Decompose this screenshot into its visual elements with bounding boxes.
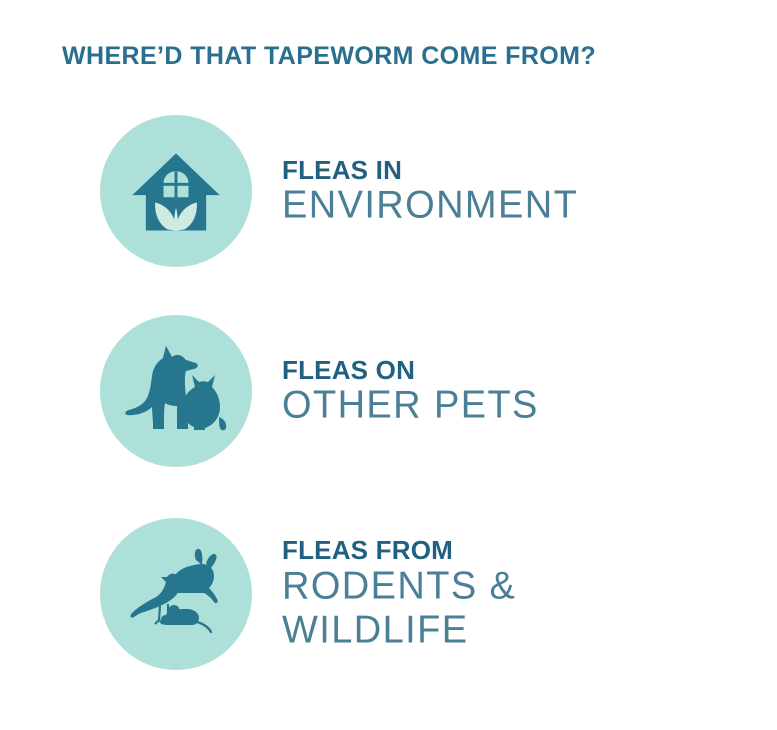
label-light-environment: ENVIRONMENT (282, 185, 578, 227)
label-bold-rodents-wildlife: FLEAS FROM (282, 536, 516, 564)
icon-circle-other-pets (100, 315, 252, 467)
icon-circle-environment (100, 115, 252, 267)
info-row-other-pets: FLEAS ON OTHER PETS (0, 315, 777, 467)
label-bold-environment: FLEAS IN (282, 156, 578, 184)
text-block-other-pets: FLEAS ON OTHER PETS (282, 315, 539, 467)
text-block-environment: FLEAS IN ENVIRONMENT (282, 115, 578, 267)
icon-circle-rodents-wildlife (100, 518, 252, 670)
label-light-wildlife: WILDLIFE (282, 609, 516, 652)
page-title: WHERE’D THAT TAPEWORM COME FROM? (62, 42, 596, 71)
text-block-rodents-wildlife: FLEAS FROM RODENTS & WILDLIFE (282, 518, 516, 670)
label-bold-other-pets: FLEAS ON (282, 356, 539, 384)
info-row-environment: FLEAS IN ENVIRONMENT (0, 115, 777, 267)
label-light-other-pets: OTHER PETS (282, 385, 539, 427)
bird-rabbit-mouse-icon (118, 544, 234, 644)
house-with-leaves-icon (124, 139, 228, 243)
dog-and-cat-icon (120, 339, 232, 443)
info-row-rodents-wildlife: FLEAS FROM RODENTS & WILDLIFE (0, 518, 777, 670)
label-light-rodents: RODENTS & (282, 565, 516, 608)
